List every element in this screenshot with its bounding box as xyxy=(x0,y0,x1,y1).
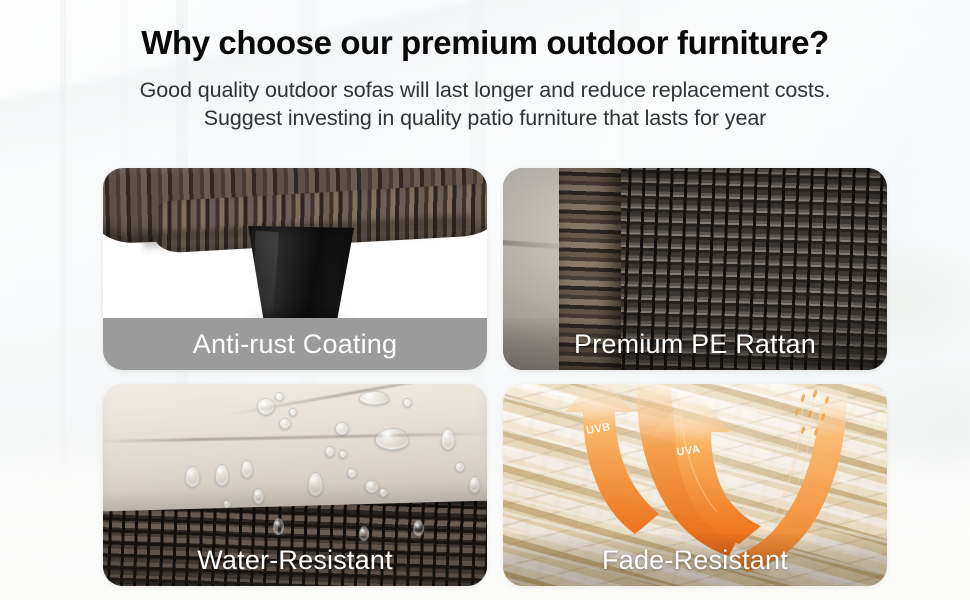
subtitle-line-1: Good quality outdoor sofas will last lon… xyxy=(0,76,970,104)
feature-panel-water-resistant[interactable]: Water-Resistant xyxy=(103,384,487,586)
panel-caption-anti-rust-coating: Anti-rust Coating xyxy=(103,318,487,370)
water-droplet xyxy=(273,518,284,535)
water-droplet xyxy=(279,418,291,429)
water-droplet xyxy=(365,480,379,493)
panel-caption-water-resistant: Water-Resistant xyxy=(103,534,487,586)
feature-panel-premium-pe-rattan[interactable]: Premium PE Rattan xyxy=(503,168,887,370)
water-droplet xyxy=(441,428,455,450)
water-droplet xyxy=(339,450,347,458)
water-droplet xyxy=(253,488,264,504)
water-droplet xyxy=(455,462,465,472)
page-title: Why choose our premium outdoor furniture… xyxy=(0,0,970,62)
water-droplet xyxy=(379,488,388,497)
feature-panel-fade-resistant[interactable]: UVA UVB xyxy=(503,384,887,586)
panel-caption-fade-resistant: Fade-Resistant xyxy=(503,534,887,586)
water-droplet xyxy=(257,398,275,415)
water-droplet xyxy=(289,408,297,416)
water-droplet xyxy=(469,476,480,493)
water-droplet xyxy=(359,391,389,405)
water-droplet xyxy=(347,468,357,478)
subtitle-line-2: Suggest investing in quality patio furni… xyxy=(0,104,970,132)
water-droplet xyxy=(375,428,409,450)
header-block: Why choose our premium outdoor furniture… xyxy=(0,0,970,133)
water-droplet xyxy=(241,460,253,478)
marketing-infographic: Why choose our premium outdoor furniture… xyxy=(0,0,970,600)
water-droplet xyxy=(223,500,231,508)
water-droplet xyxy=(215,464,229,486)
water-droplet xyxy=(308,472,323,496)
water-droplet xyxy=(325,446,335,457)
panel-caption-premium-pe-rattan: Premium PE Rattan xyxy=(503,318,887,370)
water-droplet xyxy=(403,398,412,407)
water-droplet xyxy=(335,422,349,435)
water-droplet xyxy=(275,392,284,401)
feature-panel-anti-rust-coating[interactable]: Anti-rust Coating xyxy=(103,168,487,370)
water-droplet xyxy=(185,466,200,487)
page-subtitle: Good quality outdoor sofas will last lon… xyxy=(0,62,970,133)
feature-panel-grid: Anti-rust Coating Premium PE Rattan xyxy=(103,168,867,582)
